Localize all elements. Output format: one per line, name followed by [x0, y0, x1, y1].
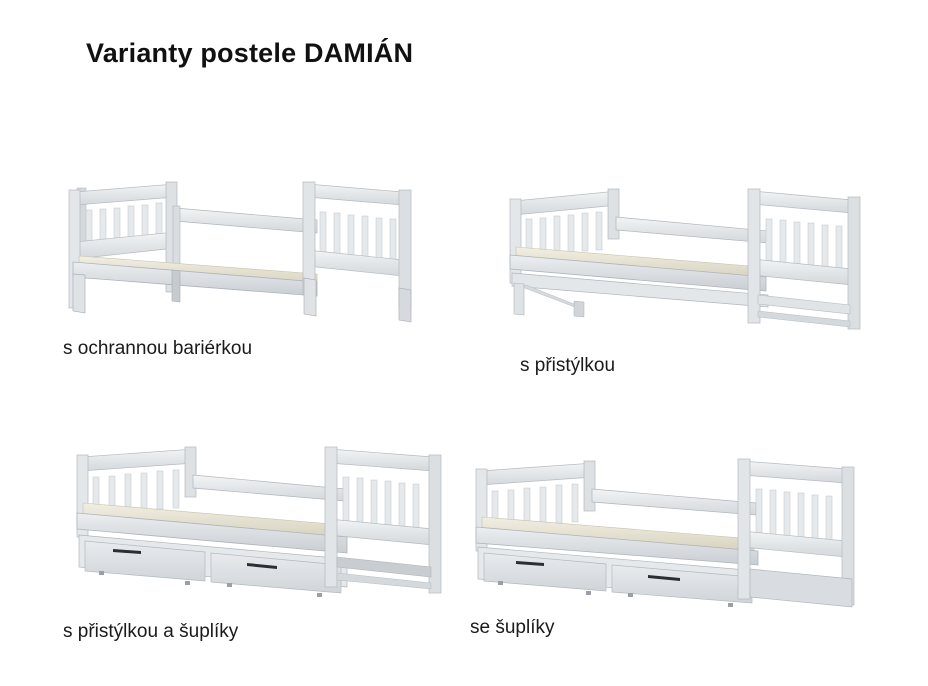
variant-caption-trundle-drawers: s přistýlkou a šuplíky	[63, 621, 238, 643]
variant-caption-trundle: s přistýlkou	[520, 355, 615, 377]
bed-illustration-trundle	[500, 175, 900, 340]
footboard-right	[738, 459, 854, 607]
footboard-right	[748, 189, 860, 329]
safety-barrier	[173, 206, 317, 264]
variant-card-drawers: se šuplíky	[460, 435, 880, 655]
variant-caption-drawers: se šuplíky	[470, 617, 554, 639]
variant-card-barrier: s ochrannou bariérkou	[55, 170, 455, 385]
bed-illustration-trundle-drawers	[55, 435, 465, 610]
bed-illustration-barrier	[55, 170, 455, 330]
bed-illustration-drawers	[460, 435, 880, 610]
variant-card-trundle-drawers: s přistýlkou a šuplíky	[55, 435, 465, 655]
variant-caption-barrier: s ochrannou bariérkou	[63, 338, 252, 360]
footboard-right	[303, 182, 411, 308]
variant-card-trundle: s přistýlkou	[500, 175, 900, 390]
page-title: Varianty postele DAMIÁN	[86, 38, 413, 69]
